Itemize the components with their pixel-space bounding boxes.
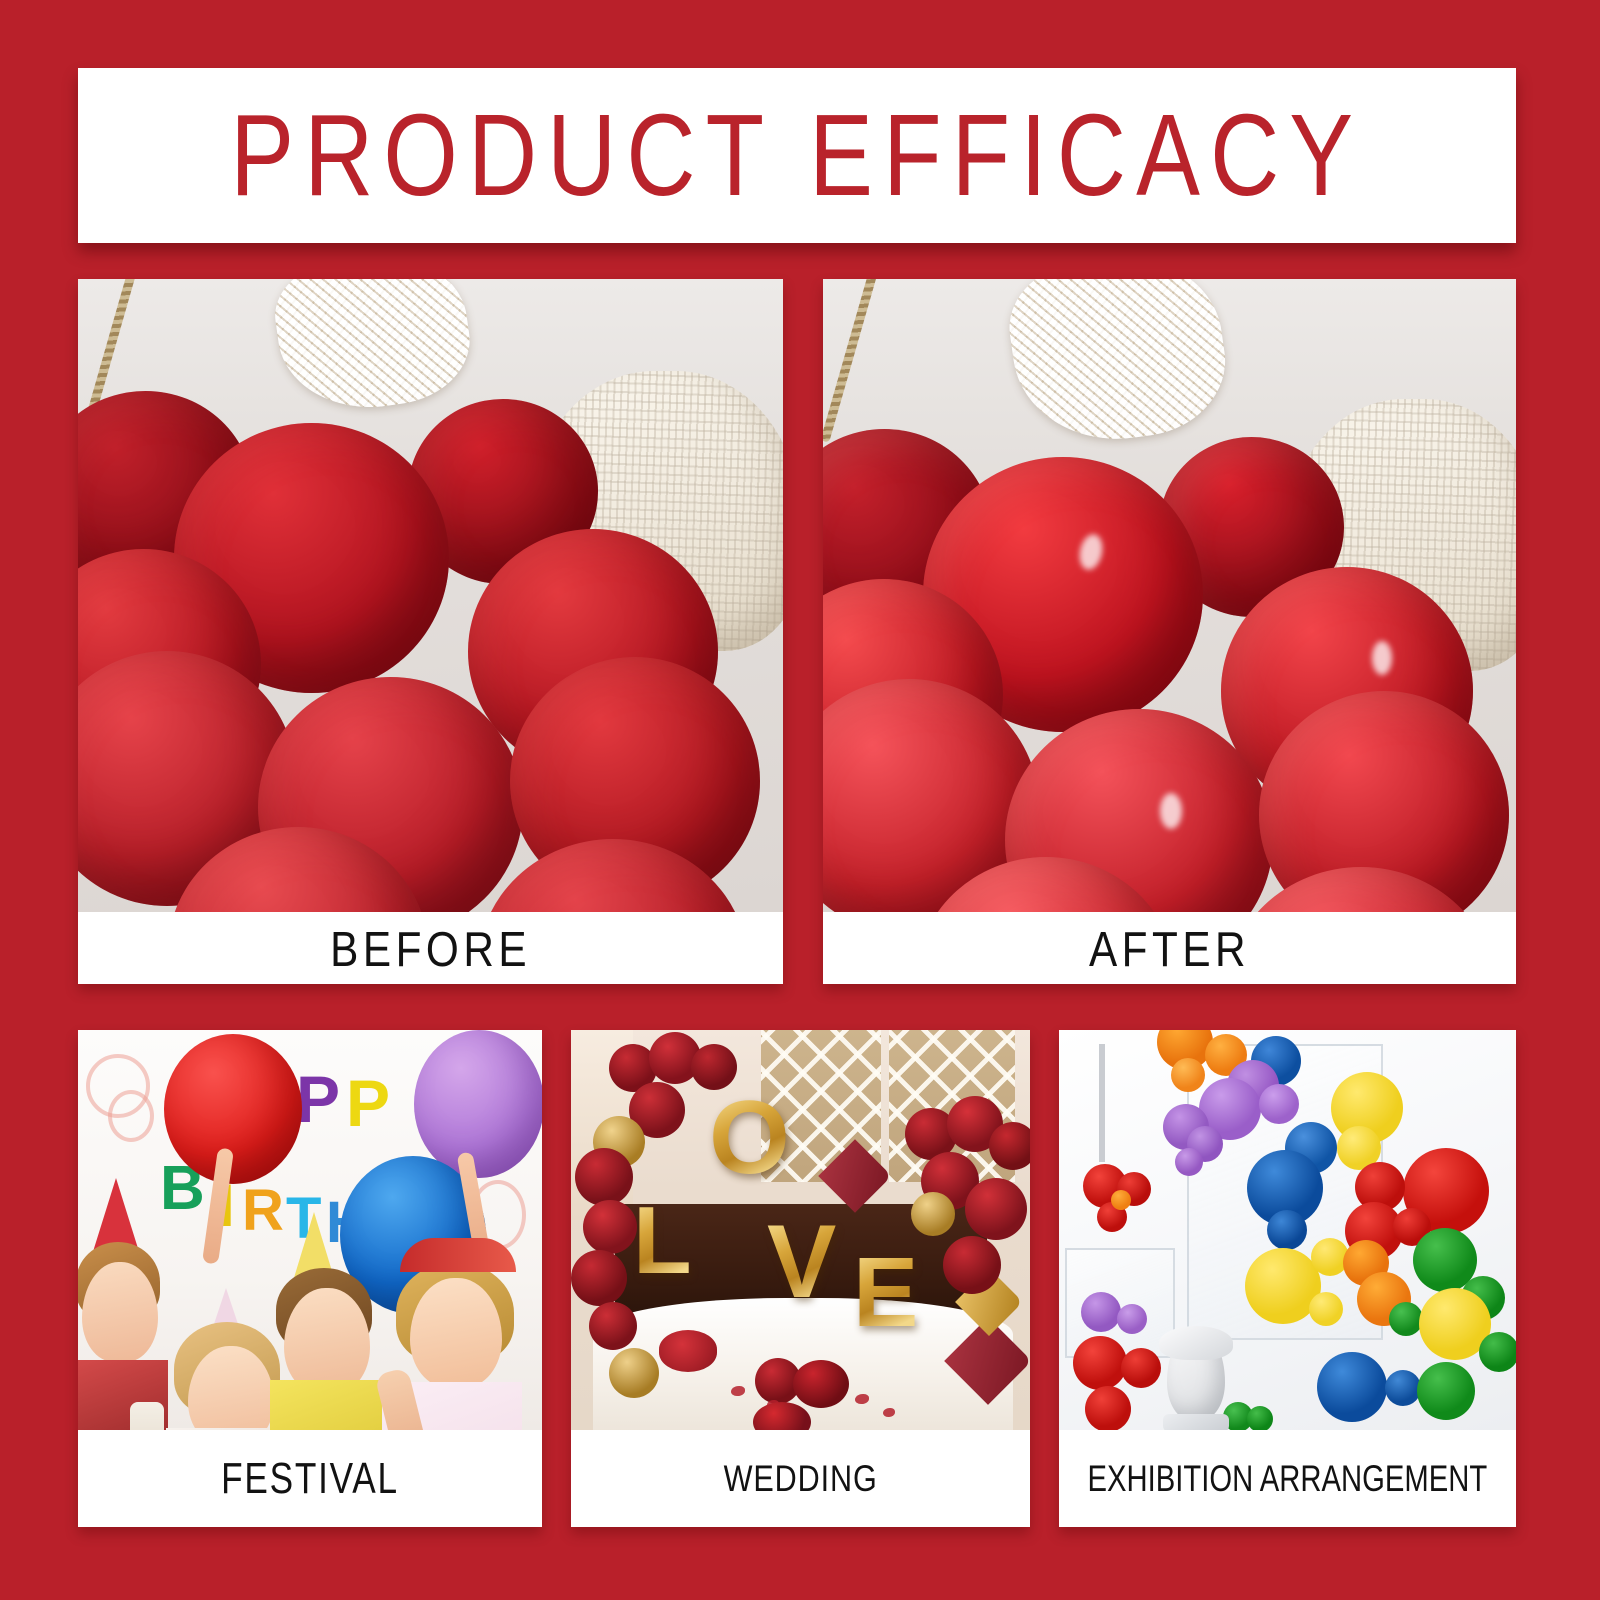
wedding-scene: O L V E [571, 1030, 1030, 1430]
balloon-purple [1175, 1148, 1203, 1176]
before-caption: BEFORE [78, 912, 783, 984]
banner-letter: P [346, 1070, 390, 1136]
title-panel: PRODUCT EFFICACY [78, 68, 1516, 243]
foil-letter-e: E [853, 1252, 918, 1332]
balloon-red [575, 1148, 633, 1206]
wedding-label: WEDDING [723, 1460, 877, 1497]
balloon-red [965, 1178, 1027, 1240]
balloon-blue [1385, 1370, 1421, 1406]
festival-scene: P P B I R T H [78, 1030, 542, 1430]
wedding-card: O L V E [571, 1030, 1030, 1527]
after-label: AFTER [1089, 923, 1250, 972]
foil-letter-l: L [633, 1202, 692, 1281]
banner-letter: P [296, 1066, 340, 1132]
balloon-purple [1117, 1304, 1147, 1334]
exhibition-caption: EXHIBITION ARRANGEMENT [1059, 1430, 1516, 1527]
happy-birthday-headband [400, 1238, 516, 1272]
exhibition-card: EXHIBITION ARRANGEMENT [1059, 1030, 1516, 1527]
festival-label: FESTIVAL [221, 1457, 399, 1500]
balloon-red [793, 1360, 849, 1408]
balloon-purple [1259, 1084, 1299, 1124]
exhibition-photo [1059, 1030, 1516, 1430]
bust-base [1163, 1414, 1229, 1430]
balloon-orange [1111, 1190, 1131, 1210]
balloon-blue [1317, 1352, 1387, 1422]
balloon-red [589, 1302, 637, 1350]
child-face [284, 1288, 370, 1394]
festival-card: P P B I R T H [78, 1030, 542, 1527]
balloon-purple [414, 1030, 542, 1178]
balloon-red [583, 1200, 637, 1254]
before-card: BEFORE [78, 279, 783, 984]
banner-letter: R [242, 1182, 284, 1240]
balloon-red [164, 1034, 302, 1184]
exhibition-scene [1059, 1030, 1516, 1430]
festival-caption: FESTIVAL [78, 1430, 542, 1527]
balloon-yellow [1309, 1292, 1343, 1326]
after-photo [823, 279, 1516, 912]
bottle [130, 1402, 164, 1430]
balloon-scene-glossy [823, 279, 1516, 912]
page-title: PRODUCT EFFICACY [231, 97, 1364, 213]
exhibition-label: EXHIBITION ARRANGEMENT [1088, 1460, 1488, 1497]
balloon-green [1417, 1362, 1475, 1420]
wedding-caption: WEDDING [571, 1430, 1030, 1527]
balloon-red [943, 1236, 1001, 1294]
rose-box [659, 1330, 717, 1372]
child-shirt [270, 1380, 388, 1430]
balloon-purple [1081, 1292, 1121, 1332]
bust-hair [1159, 1326, 1233, 1360]
child-face [82, 1262, 158, 1362]
balloon-green [1247, 1406, 1273, 1430]
before-photo [78, 279, 783, 912]
stand-pole [1099, 1044, 1105, 1162]
balloon-green [1389, 1302, 1423, 1336]
balloon-orange [1171, 1058, 1205, 1092]
before-label: BEFORE [330, 923, 531, 972]
balloon-scene-matte [78, 279, 783, 912]
balloon-red [1121, 1348, 1161, 1388]
balloon-red [1085, 1386, 1131, 1430]
balloon-red [1073, 1336, 1127, 1390]
balloon-blue [1267, 1210, 1307, 1250]
after-caption: AFTER [823, 912, 1516, 984]
foil-letter-o: O [709, 1096, 790, 1181]
wedding-photo: O L V E [571, 1030, 1030, 1430]
balloon-red [989, 1122, 1030, 1170]
streamer [108, 1090, 154, 1142]
balloon-red [571, 1250, 627, 1306]
foil-letter-v: V [767, 1220, 836, 1305]
festival-photo: P P B I R T H [78, 1030, 542, 1430]
balloon-red [691, 1044, 737, 1090]
balloon-green [1479, 1332, 1516, 1372]
balloon-gold [609, 1348, 659, 1398]
child-face [410, 1278, 502, 1388]
balloon-gold [911, 1192, 955, 1236]
after-card: AFTER [823, 279, 1516, 984]
